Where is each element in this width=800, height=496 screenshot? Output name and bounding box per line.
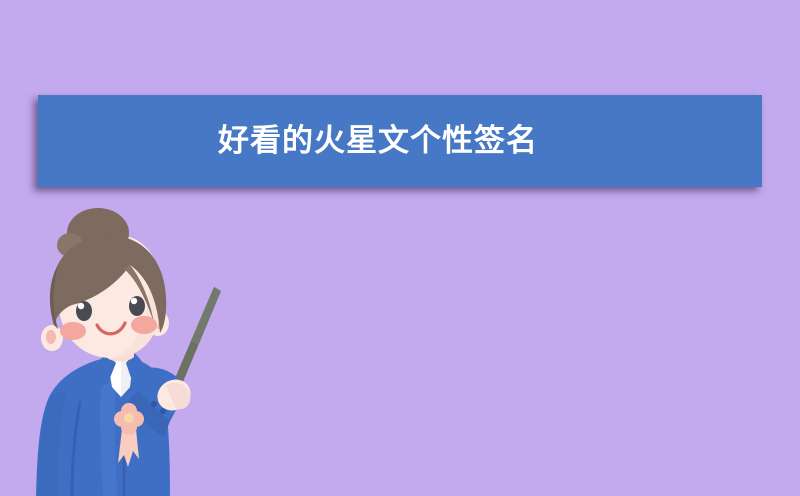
teacher-illustration-svg bbox=[18, 205, 248, 496]
page-title: 好看的火星文个性签名 bbox=[218, 126, 538, 157]
page-root: 好看的火星文个性签名 bbox=[0, 0, 800, 496]
teacher-illustration bbox=[18, 205, 248, 496]
title-banner: 好看的火星文个性签名 bbox=[38, 95, 762, 187]
